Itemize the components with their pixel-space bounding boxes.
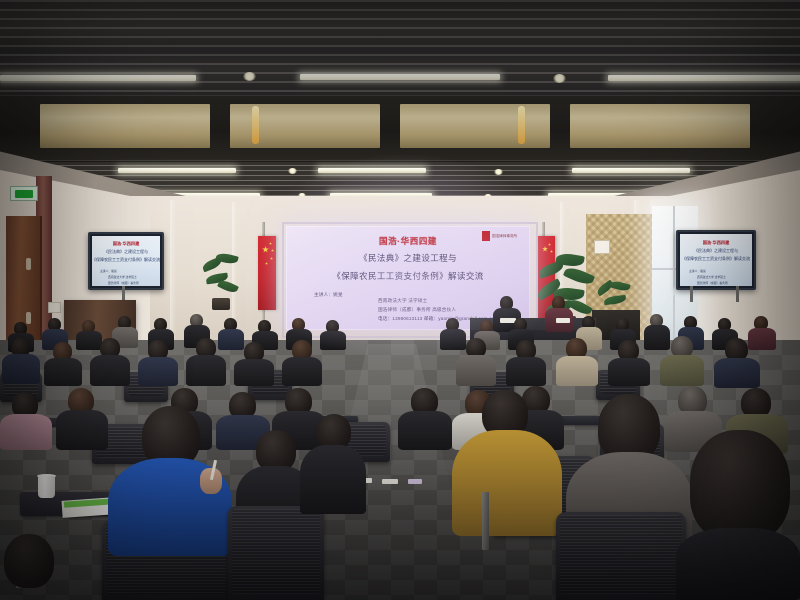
- ceiling-downlight: [553, 74, 566, 83]
- audience-member: [138, 340, 178, 386]
- monitor-line-1: 《民法典》之建设工程与: [92, 249, 160, 255]
- audience-member: [556, 338, 598, 386]
- slide-footer-label: 主讲人：姚旻: [314, 292, 343, 298]
- plant-leaf: [609, 279, 630, 292]
- person-torso: [456, 355, 496, 386]
- ceiling-coffer-band: [0, 96, 800, 162]
- flag-star-small: [271, 249, 274, 252]
- flag-star-large: [262, 246, 269, 253]
- exit-sign: [10, 186, 38, 201]
- audience-member: [456, 338, 496, 386]
- coffer-panel: [570, 104, 750, 148]
- person-torso: [300, 445, 366, 514]
- person-torso: [2, 354, 40, 384]
- ceiling-light-tube: [608, 75, 800, 81]
- conference-room-photo: 国浩律师事务所 国浩·华西四建 《民法典》之建设工程与 《保障农民工工资支付条例…: [0, 0, 800, 600]
- left-wall-monitor: 国浩·华西四建 《民法典》之建设工程与 《保障农民工工资支付条例》解读交流 主讲…: [88, 232, 164, 290]
- person-torso: [608, 358, 650, 386]
- chair-mesh: [560, 515, 682, 594]
- person-torso: [452, 430, 562, 536]
- person-head: [690, 430, 790, 542]
- ceiling-light-tube: [300, 74, 500, 80]
- audience-member: [44, 342, 82, 386]
- paper-cup[interactable]: [38, 476, 55, 498]
- ceiling-downlight: [243, 72, 256, 81]
- audience-member: [0, 534, 58, 600]
- plant-leaf: [604, 295, 627, 305]
- monitor-title: 国浩·华西四建: [680, 240, 752, 246]
- flag-star-small: [270, 257, 273, 260]
- audience-member: [186, 338, 226, 386]
- audience-member: [282, 340, 322, 386]
- ceiling-downlight: [288, 168, 297, 174]
- audience-member: [56, 388, 108, 450]
- person-torso: [138, 357, 178, 386]
- person-torso: [320, 331, 346, 350]
- audience-member: [300, 414, 366, 514]
- pendant-light: [252, 106, 259, 144]
- plant-pot: [212, 298, 230, 310]
- exit-running-man-icon: [15, 190, 33, 198]
- floor-paper: [408, 479, 422, 484]
- audience-member: [2, 338, 40, 384]
- ceiling-light-tube: [572, 168, 690, 173]
- plant-leaf: [563, 264, 595, 287]
- slide-line-1: 《民法典》之建设工程与: [286, 252, 530, 264]
- person-torso: [714, 358, 760, 388]
- flag-star-small: [265, 262, 268, 265]
- right-monitor-mount: [736, 286, 739, 302]
- person-torso: [56, 410, 108, 450]
- monitor-small-line: 国浩律师（成都）事务所: [108, 281, 139, 285]
- monitor-small-line: 西南政法大学 法学硕士: [697, 275, 726, 279]
- right-monitor-screen: 国浩·华西四建 《民法典》之建设工程与 《保障农民工工资支付条例》解读交流 主讲…: [680, 234, 752, 286]
- chinese-flag-left: [258, 236, 276, 310]
- monitor-title: 国浩·华西四建: [92, 241, 160, 247]
- ceiling-light-tube: [118, 168, 236, 173]
- person-torso: [506, 357, 546, 386]
- person-torso: [186, 355, 226, 386]
- audience-member: [234, 342, 274, 386]
- man-in-blue-jacket: [108, 406, 232, 556]
- coffer-panel: [400, 104, 550, 148]
- person-torso: [0, 414, 52, 450]
- person-head: [4, 534, 54, 588]
- slide-header-title: 国浩·华西四建: [286, 235, 530, 247]
- ceiling-light-tube: [0, 75, 196, 81]
- slide-footer-line: 国浩律师（成都）事务所 高级合伙人: [378, 307, 456, 313]
- monitor-line-1: 《民法典》之建设工程与: [680, 248, 752, 254]
- audience-member: [608, 340, 650, 386]
- wall-switch-plate[interactable]: [48, 302, 61, 313]
- audience-member: [398, 388, 452, 450]
- audience-member: [0, 392, 52, 450]
- flag-star-small: [269, 242, 272, 245]
- flag-star-small: [548, 243, 551, 246]
- person-torso: [398, 411, 452, 450]
- person-torso: [90, 355, 130, 386]
- door-handle[interactable]: [26, 258, 31, 270]
- person-torso: [44, 358, 82, 386]
- right-monitor-mount: [690, 286, 693, 302]
- presenter-right: [544, 296, 574, 332]
- person-torso: [676, 528, 800, 600]
- chair-mesh: [232, 509, 320, 594]
- chair[interactable]: [556, 512, 686, 600]
- slide-footer-line: 西南政法大学 法学硕士: [378, 298, 427, 304]
- ceiling-downlight: [494, 169, 503, 175]
- person-torso: [556, 356, 598, 386]
- coffer-panel: [40, 104, 210, 148]
- audience-member: [714, 338, 760, 388]
- potted-plant-left: [200, 254, 240, 316]
- audience-member: [320, 320, 346, 350]
- person-torso: [660, 355, 704, 386]
- person-torso: [282, 357, 322, 386]
- ceiling-light-tube: [318, 168, 426, 173]
- window-mullion: [673, 206, 675, 352]
- chair-arm-post: [482, 492, 489, 550]
- floor-paper: [382, 479, 398, 484]
- monitor-small-line: 国浩律师（成都）事务所: [697, 281, 728, 285]
- pendant-light: [518, 106, 525, 144]
- monitor-small-line: 主讲人：姚旻: [689, 269, 706, 273]
- audience-member: [660, 336, 704, 386]
- left-monitor-screen: 国浩·华西四建 《民法典》之建设工程与 《保障农民工工资支付条例》解读交流 主讲…: [92, 236, 160, 286]
- person-in-yellow-coat: [452, 390, 562, 536]
- monitor-small-line: 西南政法大学 法学硕士: [108, 275, 137, 279]
- audience-member: [506, 340, 546, 386]
- monitor-line-2: 《保障农民工工资支付条例》解读交流: [92, 257, 160, 263]
- audience-member: [676, 430, 800, 600]
- right-wall-monitor: 国浩·华西四建 《民法典》之建设工程与 《保障农民工工资支付条例》解读交流 主讲…: [676, 230, 756, 290]
- audience-member: [90, 338, 130, 386]
- slide-line-2: 《保障农民工工资支付条例》解读交流: [286, 270, 530, 282]
- chair[interactable]: [228, 506, 324, 600]
- person-torso: [234, 359, 274, 386]
- left-monitor-mount: [122, 286, 125, 300]
- monitor-small-line: 主讲人：姚旻: [100, 269, 117, 273]
- plant-leaf: [217, 278, 239, 295]
- table-document: [556, 318, 570, 323]
- monitor-line-2: 《保障农民工工资支付条例》解读交流: [680, 256, 752, 262]
